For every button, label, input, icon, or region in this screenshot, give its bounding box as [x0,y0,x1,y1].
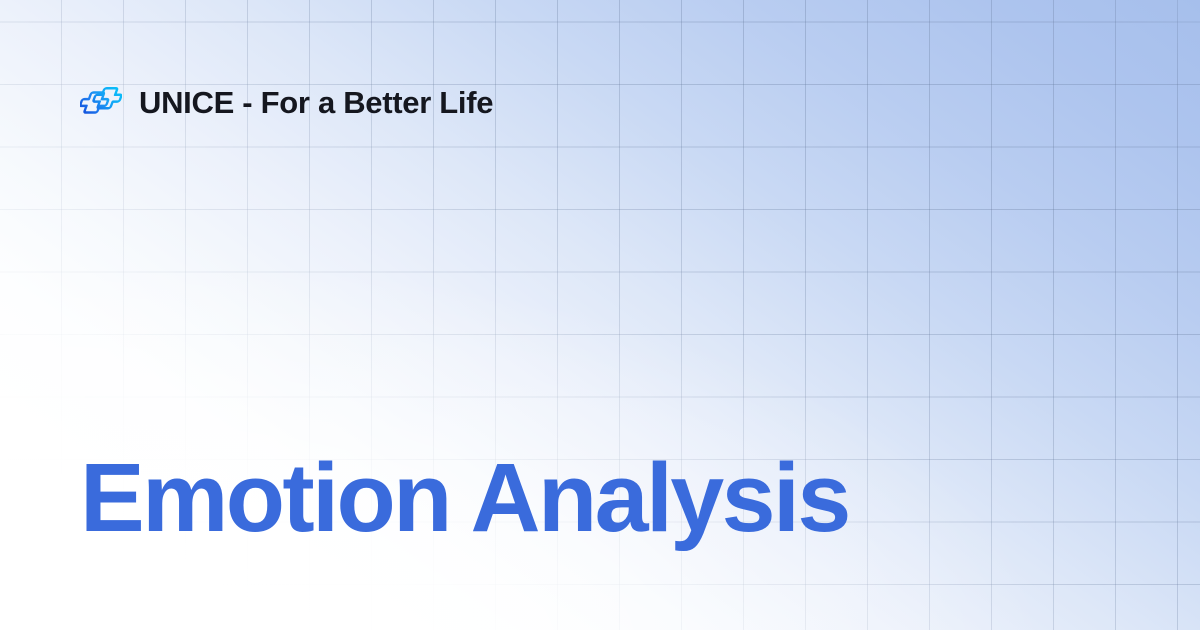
brand-name-label: UNICE - For a Better Life [139,87,493,118]
og-banner-card: UNICE - For a Better Life Emotion Analys… [0,0,1200,630]
brand-header: UNICE - For a Better Life [80,79,493,125]
unice-logo-icon [80,81,122,123]
page-title: Emotion Analysis [80,449,849,548]
